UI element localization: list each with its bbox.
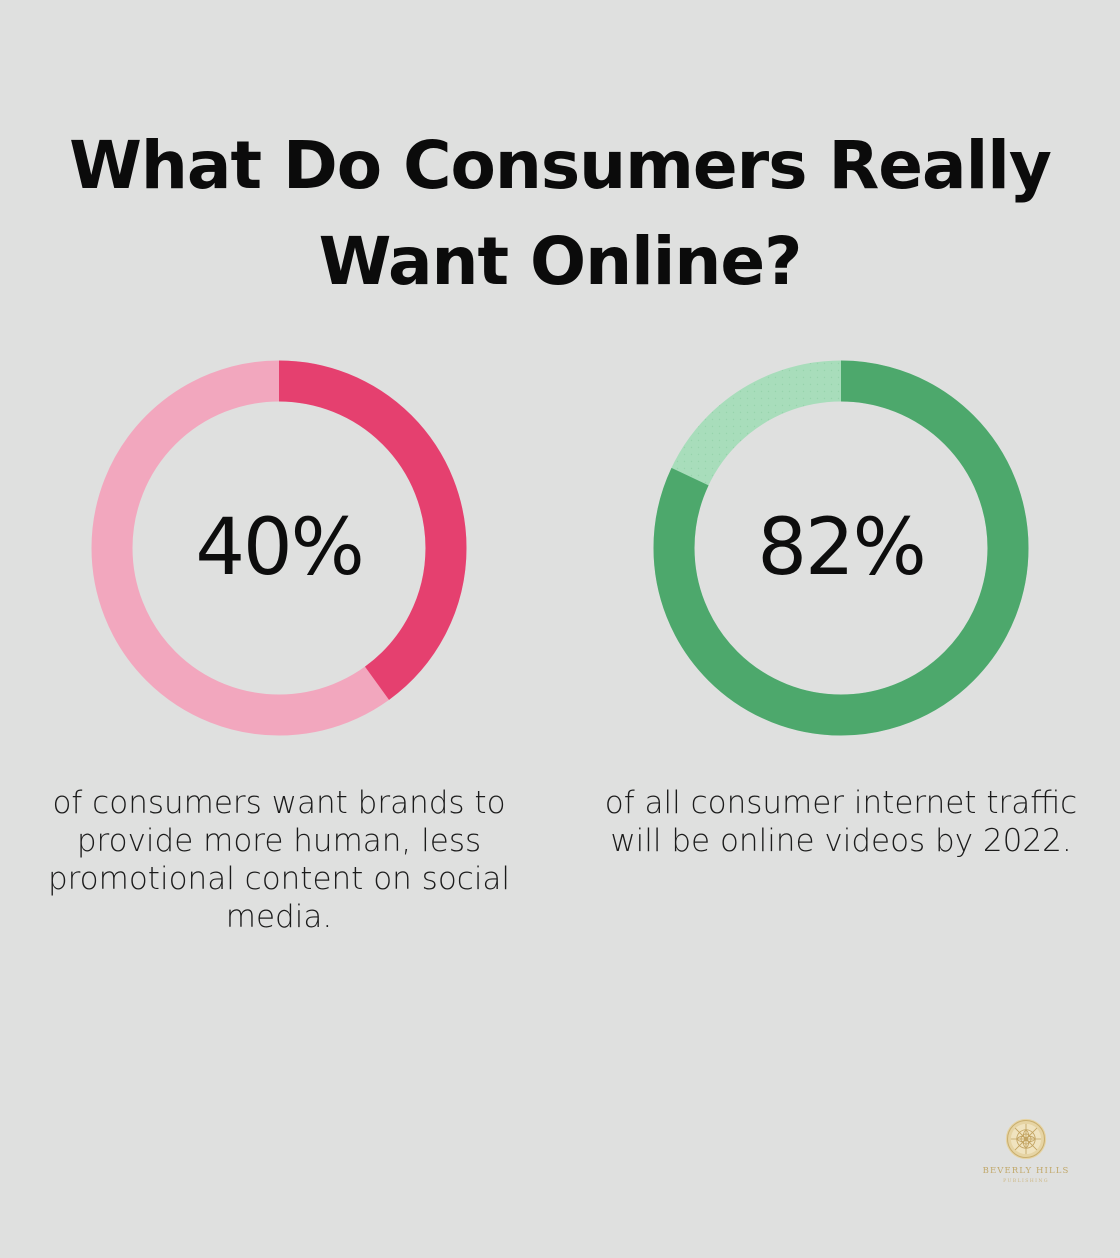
donut-2-caption: of all consumer internet traffic will be…: [601, 784, 1081, 860]
donut-2-center: 82%: [653, 360, 1029, 736]
stat-block-internet-traffic: 82% of all consumer internet traffic wil…: [622, 360, 1060, 936]
donut-1-value-label: 40%: [195, 509, 362, 587]
page-title: What Do Consumers Really Want Online?: [60, 118, 1060, 310]
donut-1-center: 40%: [91, 360, 467, 736]
infographic-canvas: What Do Consumers Really Want Online? 40…: [0, 0, 1120, 1258]
donut-chart-2: 82%: [653, 360, 1029, 736]
page-title-line-2: Want Online?: [60, 214, 1060, 310]
donut-chart-1: 40%: [91, 360, 467, 736]
brand-name: BEVERLY HILLS: [983, 1166, 1070, 1176]
donut-chart-row: 40% of consumers want brands to provide …: [0, 360, 1120, 936]
brand-logo: BEVERLY HILLS PUBLISHING: [976, 1118, 1076, 1204]
stat-block-consumers-want: 40% of consumers want brands to provide …: [60, 360, 498, 936]
donut-1-caption: of consumers want brands to provide more…: [44, 784, 514, 936]
donut-2-value-label: 82%: [757, 509, 924, 587]
brand-subtitle: PUBLISHING: [1003, 1179, 1049, 1184]
page-title-line-1: What Do Consumers Really: [60, 118, 1060, 214]
filigree-medallion-icon: [1005, 1118, 1047, 1160]
